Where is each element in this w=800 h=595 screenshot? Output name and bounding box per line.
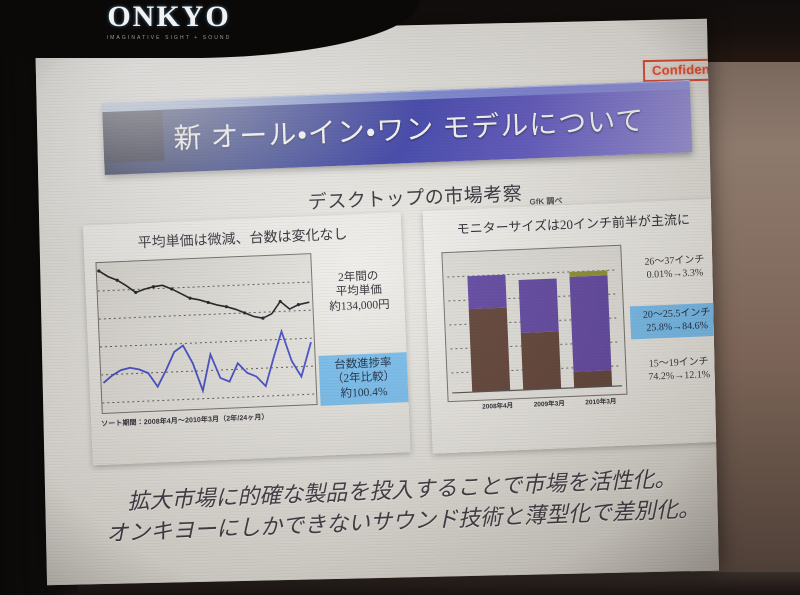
slide-title: 新 オール・イン・ワン モデルについて (173, 97, 686, 157)
confidential-badge: Confidential (643, 58, 719, 82)
legend-change-26-37: 0.01%→3.3% (628, 266, 719, 283)
onkyo-logo: ONKYO (64, 2, 274, 32)
slide-conclusion: 拡大市場に的確な製品を投入することで市場を活性化。 オンキヨーにしかできないサウ… (96, 463, 708, 550)
axis-label-2: 2010年3月 (585, 395, 616, 406)
bar-chart-monitor-size (441, 245, 627, 402)
line-chart-caption: ソート期間：2008年4月～2010年3月（2年/24ヶ月） (101, 412, 269, 429)
note-average-price: 2年間の 平均単価 約134,000円 (317, 268, 401, 315)
legend-item-15-19: 15～19インチ 74.2%→12.1% (632, 354, 719, 384)
note-unit-progress: 台数進捗率 （2年比較） 約100.4% (319, 352, 409, 406)
panel-monitor-size: モニターサイズは20インチ前半が主流に (423, 198, 719, 453)
presentation-slide: Confidential 新 オール・イン・ワン モデルについて デスクトップの… (35, 19, 719, 586)
title-banner-accent (102, 111, 164, 163)
axis-label-1: 2009年3月 (533, 397, 564, 408)
note-average-price-line3: 約134,000円 (318, 297, 401, 315)
projection-photo: Confidential 新 オール・イン・ワン モデルについて デスクトップの… (0, 0, 800, 595)
panel-left-title: 平均単価は微減、台数は変化なし (83, 221, 402, 254)
line-chart-average-price (95, 253, 317, 414)
slide-title-banner: 新 オール・イン・ワン モデルについて (102, 80, 692, 175)
panel-average-price: 平均単価は微減、台数は変化なし (83, 212, 411, 465)
legend-change-15-19: 74.2%→12.1% (633, 367, 719, 384)
onkyo-tagline: IMAGINATIVE SIGHT + SOUND (64, 35, 274, 41)
legend-item-20-25: 20～25.5インチ 25.8%→84.6% (630, 303, 719, 340)
panel-right-title: モニターサイズは20インチ前半が主流に (423, 207, 719, 239)
axis-label-0: 2008年4月 (482, 399, 513, 410)
legend-item-26-37: 26～37インチ 0.01%→3.3% (628, 253, 719, 283)
